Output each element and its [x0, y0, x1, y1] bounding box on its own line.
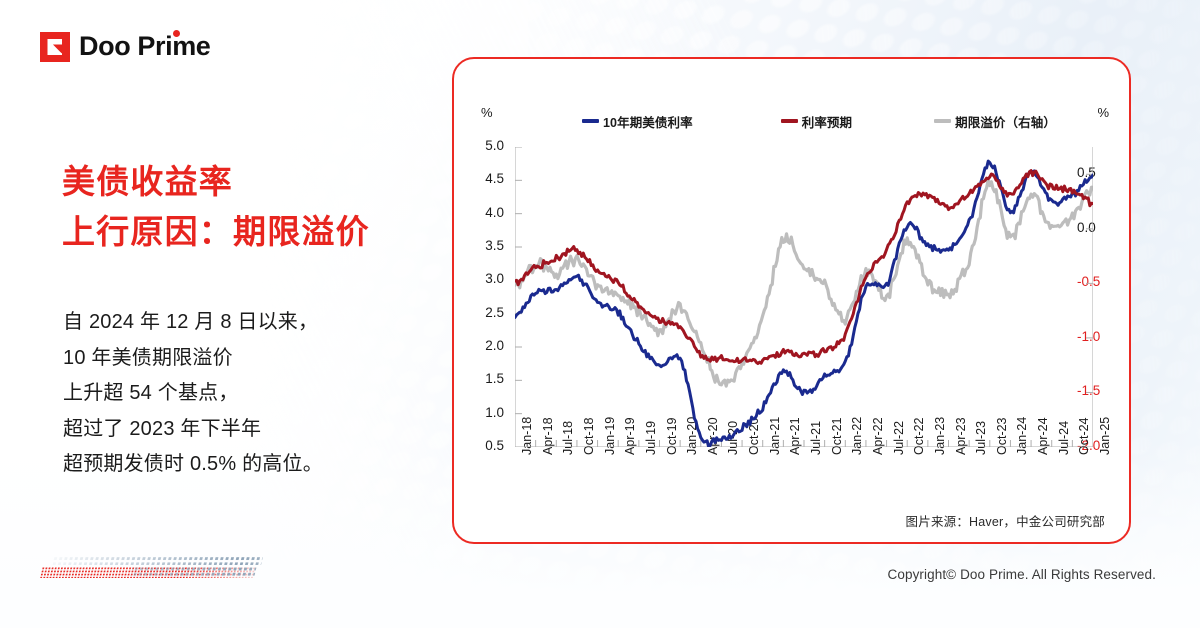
chart-plot-area: [515, 147, 1093, 447]
series-line-1: [515, 161, 1093, 447]
legend-item-3[interactable]: 期限溢价（右轴）: [934, 112, 1056, 131]
legend-item-1[interactable]: 10年期美债利率: [582, 112, 693, 131]
doo-prime-flag-icon: [40, 32, 70, 62]
y-tick-label: 2.0: [468, 338, 504, 353]
halftone-decoration: [40, 552, 280, 594]
chart-figure: % % 10年期美债利率利率预期期限溢价（右轴） 5.04.54.03.53.0…: [454, 59, 1129, 542]
chart-card: % % 10年期美债利率利率预期期限溢价（右轴） 5.04.54.03.53.0…: [452, 57, 1131, 544]
chart-legend: 10年期美债利率利率预期期限溢价（右轴）: [514, 111, 1114, 131]
brand-name: Doo Prime: [79, 31, 210, 62]
body-line-3: 上升超 54 个基点，: [63, 376, 323, 412]
y-tick-label: 1.5: [468, 371, 504, 386]
headline-line-1: 美债收益率: [62, 157, 370, 207]
y-tick-label: 0.5: [468, 438, 504, 453]
legend-swatch-icon: [582, 119, 599, 122]
body-line-2: 10 年美债期限溢价: [63, 341, 323, 377]
body-paragraph: 自 2024 年 12 月 8 日以来， 10 年美债期限溢价 上升超 54 个…: [63, 305, 323, 483]
legend-label: 利率预期: [802, 112, 852, 131]
x-tick-label: Jan-25: [1098, 417, 1112, 455]
left-axis-unit: %: [481, 105, 493, 120]
page-title: 美债收益率 上行原因：期限溢价: [62, 157, 370, 257]
chart-source-note: 图片来源：Haver，中金公司研究部: [906, 511, 1105, 530]
y-tick-label: 4.0: [468, 205, 504, 220]
y-tick-label: 3.5: [468, 238, 504, 253]
y-tick-label: 3.0: [468, 271, 504, 286]
legend-swatch-icon: [781, 119, 798, 122]
brand-logo: Doo Prime: [40, 31, 210, 62]
y-tick-label: 4.5: [468, 171, 504, 186]
y-tick-label: 5.0: [468, 138, 504, 153]
body-line-4: 超过了 2023 年下半年: [63, 412, 323, 448]
logo-accent-dot: [173, 30, 180, 37]
headline-line-2: 上行原因：期限溢价: [62, 207, 370, 257]
legend-swatch-icon: [934, 119, 951, 122]
body-line-1: 自 2024 年 12 月 8 日以来，: [63, 305, 323, 341]
y-tick-label: 1.0: [468, 405, 504, 420]
y-tick-label: 2.5: [468, 305, 504, 320]
legend-label: 期限溢价（右轴）: [955, 112, 1056, 131]
legend-label: 10年期美债利率: [603, 112, 693, 131]
legend-item-2[interactable]: 利率预期: [781, 112, 852, 131]
body-line-5: 超预期发债时 0.5% 的高位。: [63, 447, 323, 483]
copyright-notice: Copyright© Doo Prime. All Rights Reserve…: [888, 567, 1157, 582]
